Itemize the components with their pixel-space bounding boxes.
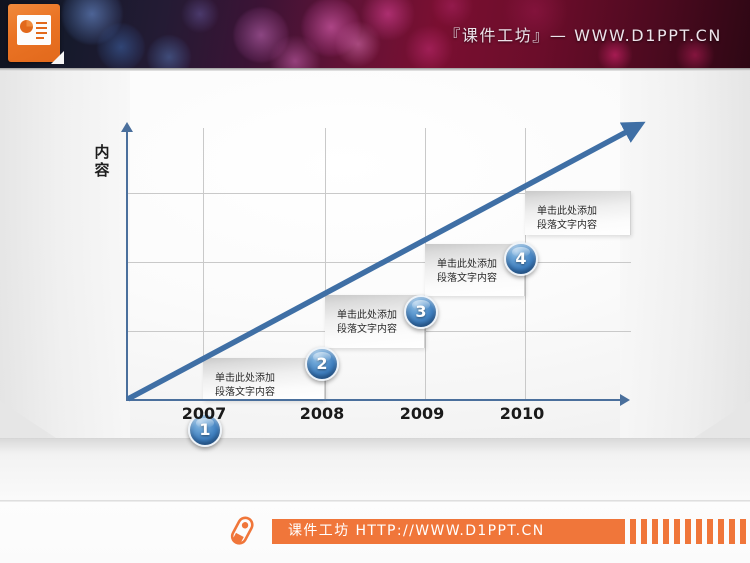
footer-tick: [652, 519, 658, 544]
footer-url-label: 课件工坊 HTTP://WWW.D1PPT.CN: [272, 519, 625, 544]
x-axis-tick-2008: 2008: [290, 404, 354, 423]
footer-tick: [718, 519, 724, 544]
growth-line-chart: 单击此处添加 段落文字内容 单击此处添加 段落文字内容 单击此处添加 段落文字内…: [0, 71, 750, 500]
logo-slide-shape: [17, 15, 51, 45]
powerpoint-logo-icon: [8, 4, 64, 64]
logo-line: [36, 22, 47, 24]
y-axis-label: 内容: [91, 143, 113, 179]
footer-tick: [685, 519, 691, 544]
header-title: 『课件工坊』— WWW.D1PPT.CN: [444, 22, 722, 46]
bokeh-circle: [146, 34, 192, 68]
pencil-icon: [226, 515, 258, 548]
bokeh-circle: [96, 22, 146, 68]
logo-corner-fold: [51, 51, 64, 64]
milestone-marker-3[interactable]: 3: [404, 295, 438, 329]
logo-line: [36, 37, 44, 39]
bokeh-circle: [180, 0, 220, 34]
footer-tick: [663, 519, 669, 544]
y-axis-arrowhead: [121, 122, 133, 132]
callout-line-2: 段落文字内容: [215, 386, 316, 400]
callout-line-2: 段落文字内容: [437, 272, 516, 286]
y-axis-line: [126, 130, 128, 400]
callout-line-2: 段落文字内容: [337, 323, 416, 337]
marker-label: 4: [515, 249, 526, 268]
x-axis-line: [126, 399, 622, 401]
x-axis-tick-2010: 2010: [490, 404, 554, 423]
callout-line-1: 单击此处添加: [537, 205, 622, 219]
footer-tick: [641, 519, 647, 544]
footer-tick: [740, 519, 746, 544]
marker-label: 3: [415, 302, 426, 321]
callout-box-4[interactable]: 单击此处添加 段落文字内容: [525, 191, 631, 235]
slide-stage: 单击此处添加 段落文字内容 单击此处添加 段落文字内容 单击此处添加 段落文字内…: [0, 71, 750, 500]
logo-line: [36, 32, 47, 34]
trend-arrow: [0, 71, 750, 500]
logo-pie-chart-icon: [20, 20, 33, 33]
milestone-marker-4[interactable]: 4: [504, 242, 538, 276]
header-banner: 『课件工坊』— WWW.D1PPT.CN: [0, 0, 750, 68]
footer-divider: [0, 500, 750, 502]
footer-tick: [674, 519, 680, 544]
x-axis-tick-2009: 2009: [390, 404, 454, 423]
callout-line-1: 单击此处添加: [215, 372, 316, 386]
x-axis-tick-2007: 2007: [172, 404, 236, 423]
footer-tick: [729, 519, 735, 544]
footer-tick: [707, 519, 713, 544]
slide-canvas: 『课件工坊』— WWW.D1PPT.CN 单击此处添加 段落文字内容: [0, 0, 750, 563]
logo-line: [36, 27, 47, 29]
footer-tick-marks: [630, 519, 750, 544]
footer-tick: [696, 519, 702, 544]
callout-line-2: 段落文字内容: [537, 219, 622, 233]
gridline-horizontal: [126, 262, 631, 263]
footer-tick: [630, 519, 636, 544]
milestone-marker-2[interactable]: 2: [305, 347, 339, 381]
x-axis-arrowhead: [620, 394, 630, 406]
marker-label: 2: [316, 354, 327, 373]
